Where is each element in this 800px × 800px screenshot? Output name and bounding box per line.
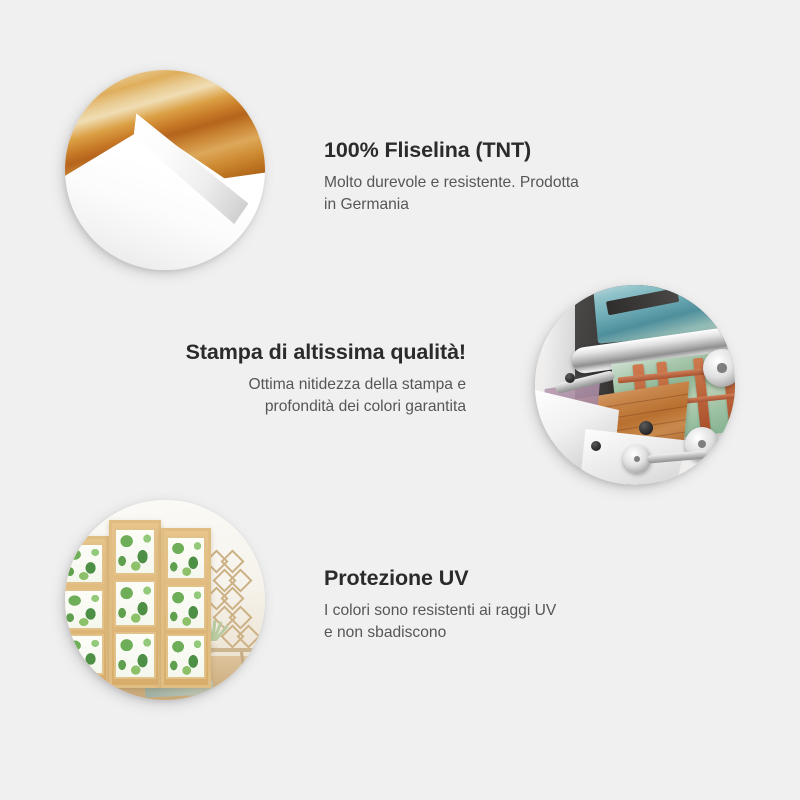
divider-panel-center [109, 520, 161, 688]
printer-wheel-top-right [703, 349, 735, 387]
feature-heading-fliselina: 100% Fliselina (TNT) [324, 138, 664, 163]
printer-knob-left [565, 373, 575, 383]
printing-machine-photo [535, 285, 735, 485]
paper-curl-photo [65, 70, 265, 270]
room-divider-photo [65, 500, 265, 700]
divider-leaf-cell [65, 589, 104, 630]
feature-image-fliselina [65, 70, 265, 270]
feature-image-stampa [535, 285, 735, 485]
divider-leaf-cell [114, 632, 155, 679]
divider-leaf-cell [65, 543, 104, 584]
printed-sea-dark-strip [606, 288, 679, 316]
feature-body-fliselina: Molto durevole e resistente. Prodotta in… [324, 172, 664, 217]
feature-body-stampa: Ottima nitidezza della stampa e profondi… [126, 374, 466, 419]
divider-leaf-cell [114, 580, 155, 627]
feature-text-fliselina: 100% Fliselina (TNT) Molto durevole e re… [324, 138, 664, 216]
feature-text-uv: Protezione UV I colori sono resistenti a… [324, 566, 664, 644]
divider-panel-left [65, 536, 109, 684]
divider-leaf-cell [114, 528, 155, 575]
feature-heading-stampa: Stampa di altissima qualità! [126, 340, 466, 365]
printer-knob-lower [591, 441, 601, 451]
feature-body-uv: I colori sono resistenti ai raggi UV e n… [324, 600, 664, 645]
printer-knob-center [639, 421, 653, 435]
divider-leaf-cell [166, 585, 206, 630]
feature-image-uv [65, 500, 265, 700]
feature-heading-uv: Protezione UV [324, 566, 664, 591]
feature-text-stampa: Stampa di altissima qualità! Ottima niti… [126, 340, 466, 418]
divider-panel-right [161, 528, 211, 688]
divider-leaf-cell [166, 634, 206, 679]
promo-page: 100% Fliselina (TNT) Molto durevole e re… [0, 0, 800, 800]
divider-leaf-cell [166, 536, 206, 581]
table-leg-right [240, 652, 246, 680]
divider-leaf-cell [65, 634, 104, 675]
